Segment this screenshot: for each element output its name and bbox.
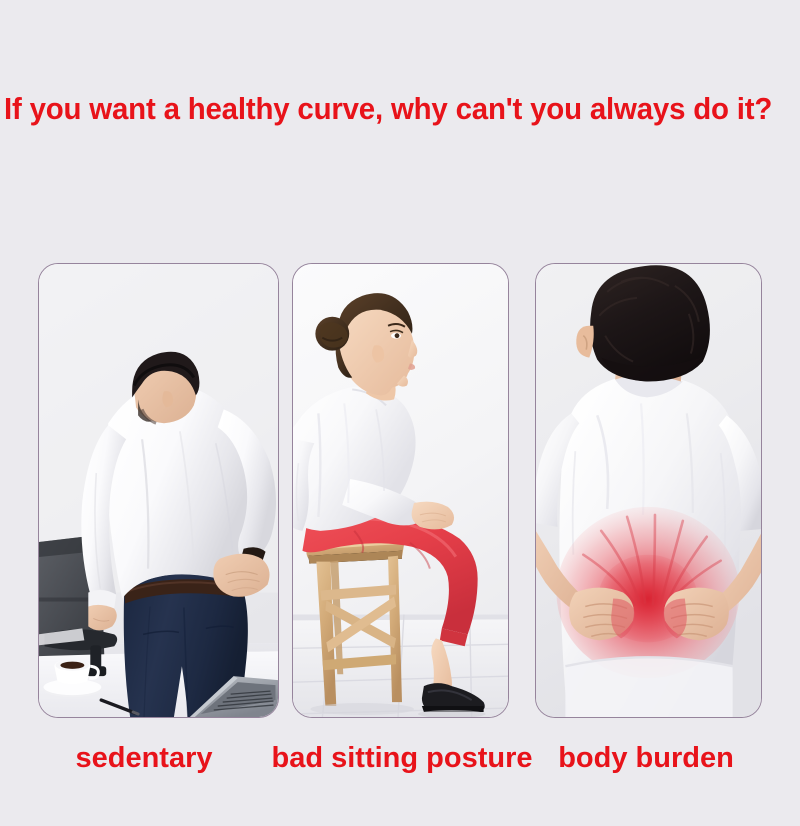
panel-sedentary[interactable] [38, 263, 279, 718]
sedentary-illustration [39, 264, 278, 717]
caption-body-burden: body burden [546, 736, 746, 780]
poster-root: If you want a healthy curve, why can't y… [0, 0, 800, 826]
white-blouse [293, 386, 423, 531]
body-burden-illustration [536, 264, 761, 717]
panel-row [0, 263, 800, 718]
bad-sitting-posture-illustration [293, 264, 508, 717]
panel-body-burden[interactable] [535, 263, 762, 718]
caption-sedentary: sedentary [44, 736, 244, 780]
page-title: If you want a healthy curve, why can't y… [4, 88, 768, 130]
panel-bad-sitting-posture[interactable] [292, 263, 509, 718]
caption-row: sedentary bad sitting posture body burde… [0, 736, 800, 780]
caption-bad-sitting-posture: bad sitting posture [254, 736, 550, 780]
